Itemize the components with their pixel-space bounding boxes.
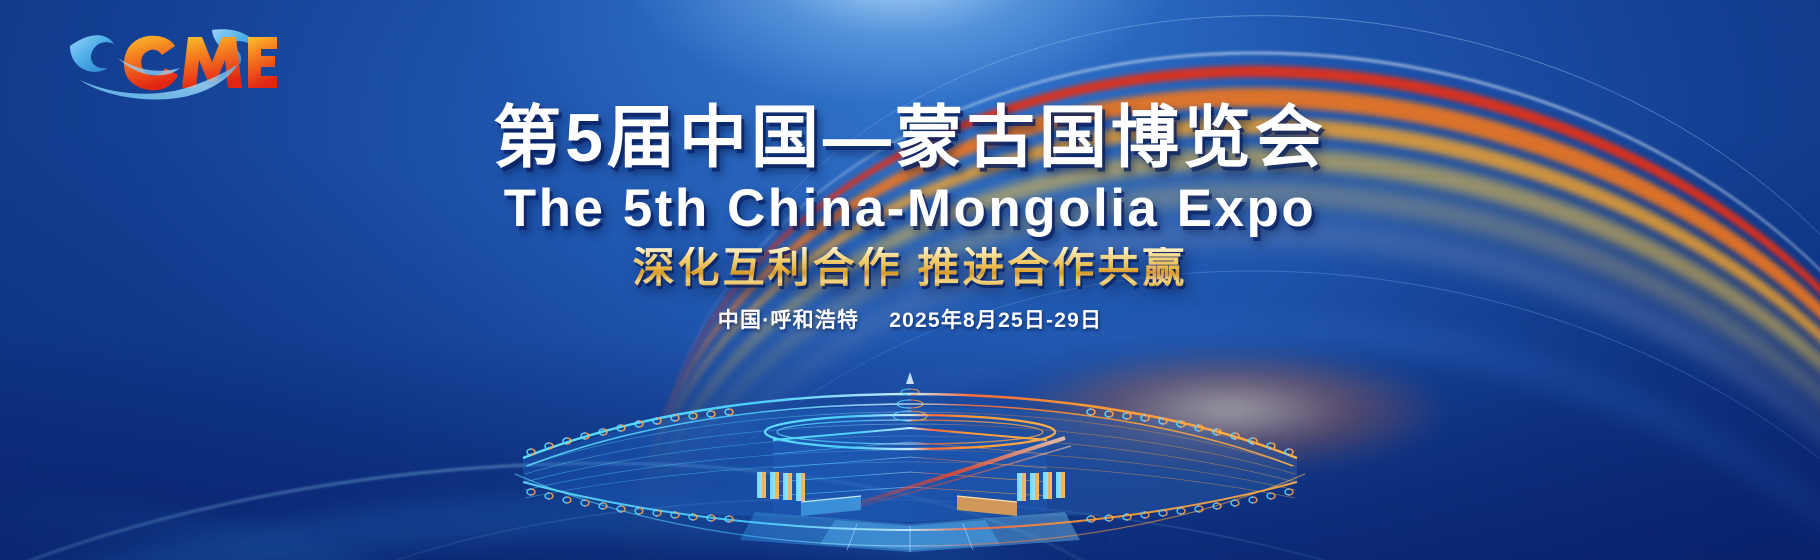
tagline: 深化互利合作 推进合作共赢 — [0, 247, 1820, 289]
event-location: 中国·呼和浩特 — [718, 309, 859, 332]
page-title-en: The 5th China-Mongolia Expo — [0, 182, 1820, 235]
expo-banner: 第5届中国—蒙古国博览会 The 5th China-Mongolia Expo… — [0, 0, 1820, 560]
page-title-cn: 第5届中国—蒙古国博览会 — [0, 104, 1820, 172]
event-dates: 2025年8月25日-29日 — [889, 309, 1102, 332]
banner-text-block: 第5届中国—蒙古国博览会 The 5th China-Mongolia Expo… — [0, 0, 1820, 560]
event-location-date: 中国·呼和浩特 2025年8月25日-29日 — [0, 310, 1820, 331]
